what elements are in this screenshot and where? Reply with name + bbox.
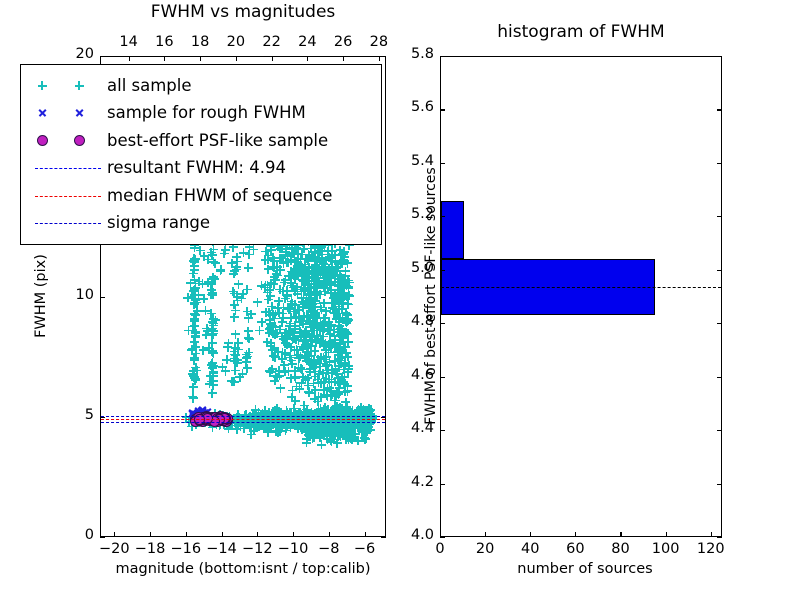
scatter-point-all-sample [294,336,303,345]
scatter-point-all-sample [364,416,373,425]
scatter-point-all-sample [297,261,306,270]
scatter-point-all-sample [286,423,295,432]
scatter-point-all-sample [312,430,321,439]
scatter-point-all-sample [266,310,275,319]
scatter-point-all-sample [297,293,306,302]
scatter-point-all-sample [192,298,201,307]
scatter-point-all-sample [337,325,346,334]
scatter-point-all-sample [358,410,367,419]
scatter-point-all-sample [279,259,288,268]
scatter-point-all-sample [366,413,375,422]
scatter-point-all-sample [328,411,337,420]
scatter-point-all-sample [344,338,353,347]
scatter-point-all-sample [297,250,306,259]
scatter-point-all-sample [306,367,315,376]
scatter-point-all-sample [292,257,301,266]
scatter-point-all-sample [340,329,349,338]
scatter-point-all-sample [278,419,287,428]
scatter-point-all-sample [292,413,301,422]
scatter-point-all-sample [364,413,373,422]
scatter-point-all-sample [291,264,300,273]
scatter-point-all-sample [300,419,309,428]
scatter-point-all-sample [275,371,284,380]
scatter-point-all-sample [362,406,371,415]
scatter-point-all-sample [362,406,371,415]
scatter-point-all-sample [350,410,359,419]
scatter-point-all-sample [264,428,273,437]
scatter-point-all-sample [295,420,304,429]
scatter-point-all-sample [285,410,294,419]
scatter-point-all-sample [344,365,353,374]
scatter-point-all-sample [316,325,325,334]
scatter-point-all-sample [338,289,347,298]
scatter-point-rough-fwhm [190,410,199,419]
scatter-point-all-sample [339,284,348,293]
scatter-point-all-sample [301,280,310,289]
scatter-point-all-sample [336,379,345,388]
scatter-point-all-sample [188,392,197,401]
scatter-point-all-sample [334,345,343,354]
scatter-point-all-sample [208,423,217,432]
scatter-point-all-sample [340,247,349,256]
scatter-point-all-sample [270,330,279,339]
scatter-point-all-sample [304,387,313,396]
scatter-point-all-sample [263,255,272,264]
scatter-point-all-sample [334,274,343,283]
scatter-point-all-sample [307,288,316,297]
scatter-point-all-sample [302,435,311,444]
scatter-point-all-sample [322,272,331,281]
scatter-point-all-sample [209,257,218,266]
scatter-point-all-sample [270,314,279,323]
scatter-point-all-sample [272,413,281,422]
scatter-point-all-sample [257,420,266,429]
scatter-point-all-sample [316,326,325,335]
legend-item: sample for rough FWHM [29,100,371,128]
scatter-point-all-sample [207,324,216,333]
scatter-point-all-sample [350,424,359,433]
scatter-point-all-sample [233,355,242,364]
scatter-point-all-sample [344,413,353,422]
scatter-point-all-sample [328,304,337,313]
scatter-point-all-sample [321,374,330,383]
scatter-point-all-sample [343,422,352,431]
scatter-point-all-sample [365,416,374,425]
scatter-point-all-sample [287,313,296,322]
scatter-point-all-sample [281,329,290,338]
scatter-point-all-sample [330,340,339,349]
scatter-point-all-sample [334,281,343,290]
scatter-point-all-sample [306,314,315,323]
scatter-point-all-sample [345,291,354,300]
scatter-point-all-sample [366,416,375,425]
scatter-point-all-sample [338,299,347,308]
scatter-point-all-sample [289,416,298,425]
scatter-point-all-sample [267,302,276,311]
scatter-point-all-sample [306,312,315,321]
scatter-point-all-sample [270,410,279,419]
scatter-point-all-sample [232,416,241,425]
scatter-point-all-sample [335,328,344,337]
scatter-point-all-sample [191,332,200,341]
hist-y-tick-label: 4.6 [386,367,434,383]
scatter-point-all-sample [354,413,363,422]
scatter-point-all-sample [312,262,321,271]
scatter-point-all-sample [189,383,198,392]
hist-x-tick-label: 20 [465,541,505,557]
scatter-point-rough-fwhm [194,410,203,419]
scatter-point-all-sample [318,422,327,431]
scatter-point-all-sample [230,289,239,298]
scatter-point-all-sample [300,353,309,362]
scatter-point-all-sample [339,378,348,387]
legend-item: median FHWM of sequence [29,182,371,210]
scatter-point-all-sample [328,257,337,266]
scatter-point-all-sample [319,424,328,433]
scatter-point-all-sample [321,339,330,348]
scatter-point-all-sample [273,329,282,338]
scatter-point-all-sample [348,435,357,444]
scatter-point-all-sample [342,402,351,411]
scatter-point-all-sample [348,406,357,415]
scatter-point-all-sample [303,297,312,306]
scatter-point-rough-fwhm [198,406,207,415]
scatter-point-all-sample [367,416,376,425]
scatter-point-all-sample [365,410,374,419]
scatter-point-all-sample [216,265,225,274]
scatter-point-all-sample [278,423,287,432]
hist-y-tick-right [717,109,722,110]
scatter-point-all-sample [296,255,305,264]
scatter-point-all-sample [191,333,200,342]
scatter-point-all-sample [272,419,281,428]
scatter-point-all-sample [304,424,313,433]
scatter-point-all-sample [302,413,311,422]
scatter-point-all-sample [338,425,347,434]
scatter-point-all-sample [295,262,304,271]
scatter-point-all-sample [356,413,365,422]
scatter-point-all-sample [291,335,300,344]
scatter-point-all-sample [333,416,342,425]
scatter-point-all-sample [193,307,202,316]
scatter-point-all-sample [270,256,279,265]
scatter-point-all-sample [341,358,350,367]
scatter-point-all-sample [216,416,225,425]
scatter-point-all-sample [220,249,229,258]
scatter-point-all-sample [325,423,334,432]
x-tick-top [129,56,130,61]
scatter-point-all-sample [364,423,373,432]
scatter-point-all-sample [336,426,345,435]
x-tick-top [272,56,273,61]
scatter-point-all-sample [344,410,353,419]
scatter-point-all-sample [208,339,217,348]
scatter-point-all-sample [350,410,359,419]
scatter-point-all-sample [303,341,312,350]
scatter-point-all-sample [365,419,374,428]
scatter-point-all-sample [345,410,354,419]
scatter-point-all-sample [360,410,369,419]
scatter-point-all-sample [309,356,318,365]
scatter-point-all-sample [291,272,300,281]
scatter-point-all-sample [320,427,329,436]
scatter-point-all-sample [312,419,321,428]
scatter-point-all-sample [309,319,318,328]
scatter-point-all-sample [270,376,279,385]
scatter-point-all-sample [191,279,200,288]
scatter-point-all-sample [278,309,287,318]
scatter-point-all-sample [318,264,327,273]
scatter-point-all-sample [299,283,308,292]
scatter-point-all-sample [350,423,359,432]
scatter-point-all-sample [261,281,270,290]
scatter-point-all-sample [244,327,253,336]
scatter-point-all-sample [315,339,324,348]
scatter-point-all-sample [260,419,269,428]
scatter-point-all-sample [320,287,329,296]
scatter-point-all-sample [340,387,349,396]
hist-y-tick-label: 5.2 [386,206,434,222]
scatter-point-all-sample [247,430,256,439]
scatter-point-all-sample [315,370,324,379]
hist-x-tick-label: 80 [600,541,640,557]
x-tick-bottom [329,532,330,537]
scatter-point-all-sample [284,272,293,281]
scatter-point-all-sample [273,419,282,428]
scatter-point-all-sample [322,434,331,443]
scatter-point-all-sample [304,254,313,263]
scatter-point-all-sample [323,435,332,444]
scatter-point-all-sample [343,314,352,323]
scatter-point-all-sample [343,425,352,434]
scatter-point-all-sample [356,423,365,432]
scatter-point-all-sample [301,326,310,335]
scatter-point-all-sample [282,286,291,295]
scatter-point-all-sample [348,432,357,441]
scatter-point-all-sample [315,433,324,442]
scatter-point-all-sample [333,402,342,411]
x-tick-label-top: 16 [148,34,180,50]
scatter-point-all-sample [312,273,321,282]
scatter-point-all-sample [326,330,335,339]
scatter-point-all-sample [331,420,340,429]
histogram-bar [441,201,464,258]
scatter-point-all-sample [207,416,216,425]
scatter-point-all-sample [340,426,349,435]
scatter-point-rough-fwhm [197,407,206,416]
scatter-point-all-sample [289,420,298,429]
scatter-point-all-sample [291,300,300,309]
scatter-point-all-sample [311,302,320,311]
scatter-point-all-sample [335,384,344,393]
scatter-point-all-sample [233,358,242,367]
scatter-point-all-sample [191,310,200,319]
scatter-point-all-sample [265,328,274,337]
scatter-point-all-sample [307,417,316,426]
scatter-point-all-sample [307,413,316,422]
scatter-point-all-sample [307,341,316,350]
scatter-point-all-sample [282,413,291,422]
scatter-point-all-sample [232,413,241,422]
scatter-point-all-sample [343,259,352,268]
scatter-point-all-sample [264,427,273,436]
scatter-point-all-sample [234,413,243,422]
hist-y-tick-left [440,430,445,431]
scatter-point-all-sample [311,268,320,277]
scatter-point-all-sample [268,407,277,416]
scatter-point-all-sample [304,274,313,283]
scatter-point-all-sample [355,413,364,422]
scatter-point-all-sample [336,413,345,422]
scatter-point-all-sample [221,367,230,376]
scatter-point-all-sample [335,304,344,313]
scatter-point-all-sample [309,379,318,388]
scatter-point-all-sample [363,427,372,436]
scatter-point-all-sample [358,416,367,425]
x-tick-label-bottom: −8 [310,541,348,557]
scatter-point-all-sample [307,252,316,261]
scatter-point-all-sample [273,404,282,413]
scatter-point-all-sample [281,410,290,419]
scatter-point-all-sample [330,356,339,365]
hist-x-tick [485,532,486,537]
scatter-point-all-sample [342,420,351,429]
scatter-point-all-sample [265,416,274,425]
scatter-point-all-sample [204,255,213,264]
scatter-point-all-sample [326,410,335,419]
scatter-point-all-sample [332,389,341,398]
scatter-point-all-sample [245,413,254,422]
x-tick-label-bottom: −12 [238,541,276,557]
scatter-point-all-sample [189,257,198,266]
scatter-point-rough-fwhm [197,410,206,419]
hist-y-tick-label: 5.4 [386,153,434,169]
scatter-point-all-sample [283,291,292,300]
scatter-point-all-sample [190,317,199,326]
scatter-point-all-sample [338,419,347,428]
scatter-point-all-sample [343,387,352,396]
scatter-point-all-sample [232,265,241,274]
scatter-point-all-sample [288,416,297,425]
scatter-point-all-sample [332,423,341,432]
scatter-point-all-sample [291,321,300,330]
scatter-point-all-sample [314,277,323,286]
scatter-point-all-sample [280,419,289,428]
scatter-point-all-sample [359,405,368,414]
scatter-point-all-sample [346,431,355,440]
scatter-point-all-sample [292,413,301,422]
scatter-point-all-sample [265,367,274,376]
scatter-point-all-sample [323,392,332,401]
scatter-point-all-sample [319,271,328,280]
scatter-point-all-sample [274,413,283,422]
x-tick-label-top: 20 [220,34,252,50]
scatter-point-all-sample [345,278,354,287]
scatter-point-all-sample [284,410,293,419]
scatter-point-all-sample [299,244,308,253]
scatter-point-all-sample [342,349,351,358]
scatter-point-all-sample [336,406,345,415]
scatter-point-all-sample [311,425,320,434]
y-tick-left [100,297,105,298]
scatter-point-all-sample [363,424,372,433]
scatter-point-all-sample [316,318,325,327]
scatter-point-all-sample [316,270,325,279]
scatter-point-all-sample [338,259,347,268]
scatter-point-all-sample [338,413,347,422]
legend-label: resultant FWHM: 4.94 [107,160,286,177]
scatter-point-all-sample [314,276,323,285]
scatter-point-all-sample [347,419,356,428]
scatter-point-all-sample [234,345,243,354]
hist-y-tick-left [440,270,445,271]
scatter-point-all-sample [287,278,296,287]
scatter-point-all-sample [301,410,310,419]
scatter-point-all-sample [280,361,289,370]
scatter-point-all-sample [323,416,332,425]
scatter-point-all-sample [336,339,345,348]
scatter-point-all-sample [245,334,254,343]
scatter-point-all-sample [256,413,265,422]
scatter-point-all-sample [322,424,331,433]
scatter-point-all-sample [334,327,343,336]
scatter-point-all-sample [341,267,350,276]
scatter-point-all-sample [254,413,263,422]
scatter-point-all-sample [234,338,243,347]
scatter-point-all-sample [309,283,318,292]
histogram-reference-line [441,287,721,288]
scatter-point-all-sample [281,413,290,422]
scatter-point-all-sample [305,432,314,441]
scatter-point-all-sample [342,318,351,327]
scatter-point-all-sample [202,330,211,339]
scatter-point-all-sample [191,311,200,320]
scatter-point-all-sample [336,410,345,419]
scatter-point-all-sample [218,363,227,372]
scatter-point-all-sample [208,347,217,356]
scatter-point-all-sample [333,263,342,272]
scatter-point-all-sample [208,288,217,297]
scatter-point-all-sample [305,270,314,279]
scatter-point-all-sample [355,411,364,420]
scatter-point-all-sample [334,296,343,305]
scatter-point-all-sample [297,410,306,419]
scatter-point-all-sample [317,321,326,330]
scatter-point-all-sample [284,331,293,340]
scatter-point-all-sample [190,310,199,319]
scatter-point-all-sample [204,344,213,353]
scatter-point-all-sample [303,311,312,320]
scatter-point-all-sample [298,373,307,382]
scatter-point-all-sample [329,294,338,303]
scatter-point-all-sample [227,377,236,386]
scatter-point-all-sample [274,297,283,306]
scatter-point-all-sample [278,318,287,327]
scatter-point-all-sample [302,296,311,305]
scatter-point-all-sample [316,247,325,256]
scatter-point-all-sample [208,363,217,372]
y-tick-label-left: 10 [56,287,94,303]
scatter-point-all-sample [320,405,329,414]
scatter-point-all-sample [238,290,247,299]
circle-marker [37,135,48,146]
scatter-point-all-sample [331,431,340,440]
scatter-point-all-sample [291,312,300,321]
scatter-point-all-sample [190,254,199,263]
scatter-point-all-sample [360,420,369,429]
scatter-point-all-sample [313,331,322,340]
scatter-point-all-sample [304,290,313,299]
